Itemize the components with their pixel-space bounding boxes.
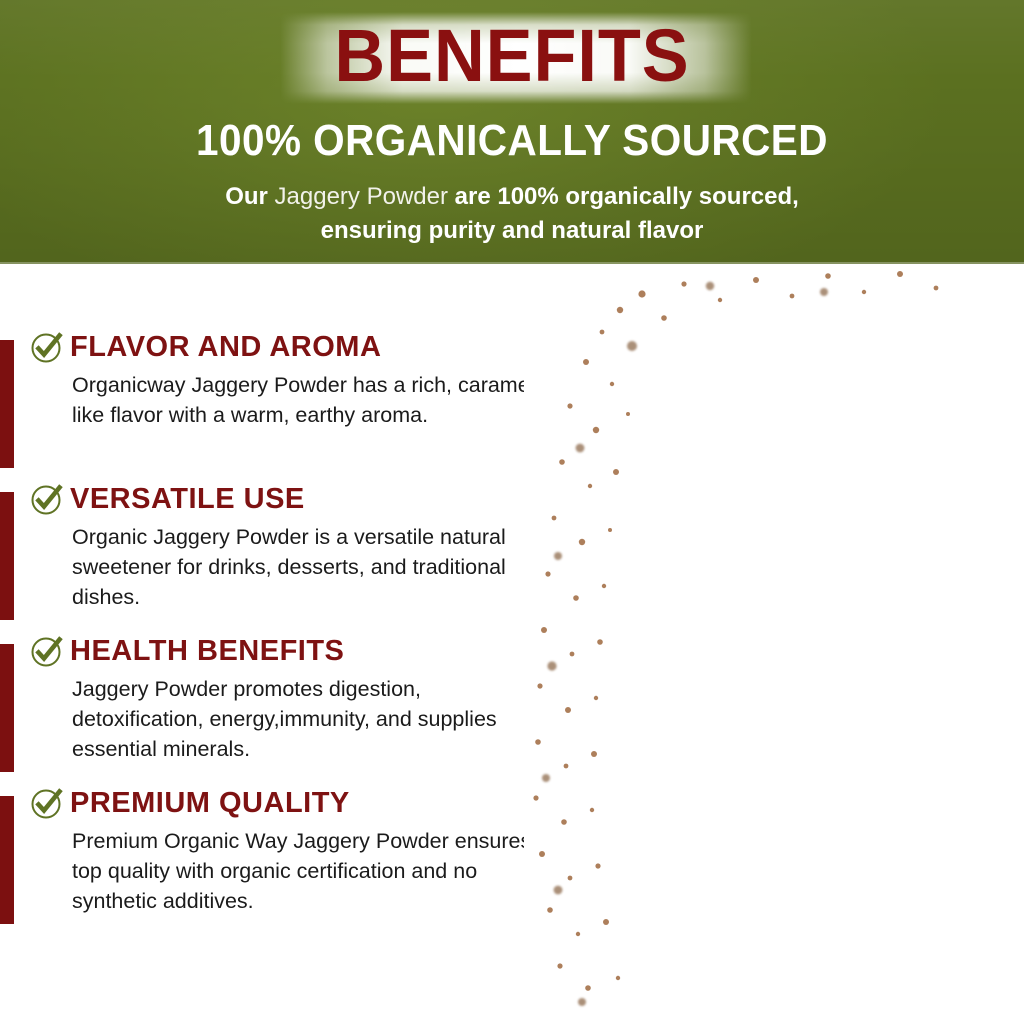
benefit-description: Organic Jaggery Powder is a versatile na…: [72, 522, 542, 612]
accent-bar: [0, 796, 14, 924]
header-tagline: Our Jaggery Powder are 100% organically …: [140, 180, 884, 248]
check-circle-icon: [30, 330, 64, 364]
list-item: VERSATILE USE Organic Jaggery Powder is …: [0, 482, 560, 622]
benefit-title: VERSATILE USE: [70, 483, 305, 515]
header-banner: BENEFITS 100% ORGANICALLY SOURCED Our Ja…: [0, 0, 1024, 264]
list-item: PREMIUM QUALITY Premium Organic Way Jagg…: [0, 786, 560, 926]
benefit-title: PREMIUM QUALITY: [70, 787, 350, 819]
benefit-title: FLAVOR AND AROMA: [70, 331, 381, 363]
check-circle-icon: [30, 482, 64, 516]
header-divider: [0, 262, 1024, 264]
list-item: FLAVOR AND AROMA Organicway Jaggery Powd…: [0, 330, 560, 470]
benefits-infographic: BENEFITS 100% ORGANICALLY SOURCED Our Ja…: [0, 0, 1024, 1024]
benefit-title: HEALTH BENEFITS: [70, 635, 344, 667]
accent-bar: [0, 340, 14, 468]
check-circle-icon: [30, 634, 64, 668]
list-item: HEALTH BENEFITS Jaggery Powder promotes …: [0, 634, 560, 774]
page-title: BENEFITS: [26, 16, 999, 96]
check-circle-icon: [30, 786, 64, 820]
tagline-prefix: Our: [225, 183, 274, 210]
benefit-description: Premium Organic Way Jaggery Powder ensur…: [72, 826, 542, 916]
tagline-product: Jaggery Powder: [275, 183, 448, 210]
benefit-heading-row: FLAVOR AND AROMA: [30, 330, 560, 364]
benefit-description: Jaggery Powder promotes digestion, detox…: [72, 674, 542, 764]
product-photo: [524, 266, 1024, 1024]
benefits-list: FLAVOR AND AROMA Organicway Jaggery Powd…: [0, 330, 560, 938]
header-subtitle: 100% ORGANICALLY SOURCED: [41, 116, 983, 166]
benefit-heading-row: VERSATILE USE: [30, 482, 560, 516]
benefit-description: Organicway Jaggery Powder has a rich, ca…: [72, 370, 542, 430]
accent-bar: [0, 492, 14, 620]
benefit-heading-row: PREMIUM QUALITY: [30, 786, 560, 820]
benefit-heading-row: HEALTH BENEFITS: [30, 634, 560, 668]
tagline-suffix: are 100% organically sourced,: [448, 183, 799, 210]
tagline-line-two: ensuring purity and natural flavor: [321, 217, 704, 244]
accent-bar: [0, 644, 14, 772]
product-photo-illustration: [524, 266, 1024, 1024]
